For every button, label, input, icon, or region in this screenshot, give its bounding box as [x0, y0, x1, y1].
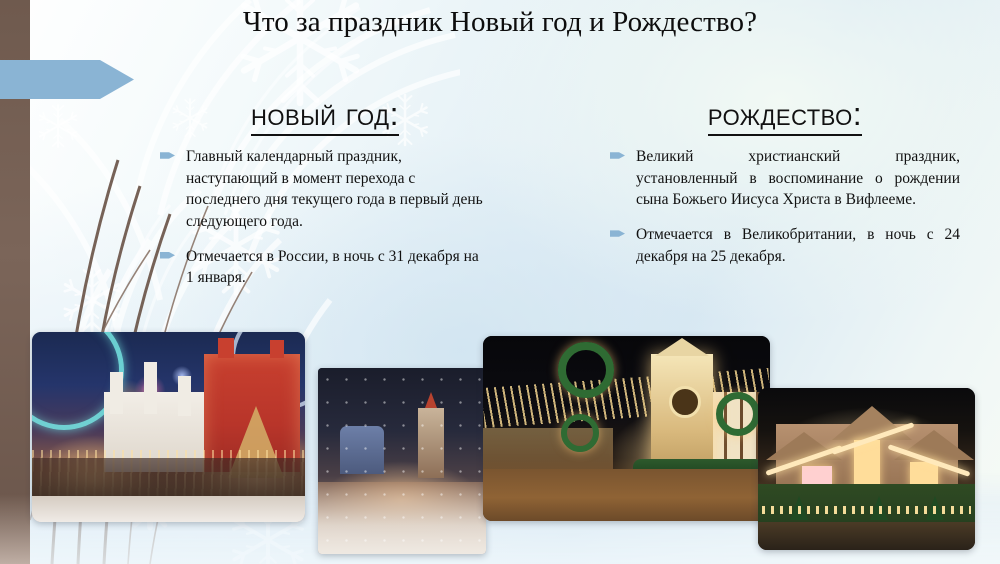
photo-red-square-snow-art — [318, 368, 486, 554]
column-christmas-heading-wrap: Рождество: — [610, 96, 960, 146]
list-item: Великий христианский праздник, установле… — [610, 146, 960, 211]
roof-gable-left — [766, 432, 842, 460]
list-item: Отмечается в Великобритании, в ночь с 24… — [610, 224, 960, 267]
column-new-year-bullet-list: Главный календарный праздник, наступающи… — [160, 146, 490, 289]
list-item: Главный календарный праздник, наступающи… — [160, 146, 490, 233]
bullet-pennant-icon — [160, 251, 175, 260]
tower-shape — [144, 362, 157, 414]
list-item-text: Отмечается в Великобритании, в ночь с 24… — [636, 226, 960, 265]
photo-christmas-market — [483, 336, 770, 521]
photo-moscow-fireworks — [32, 332, 305, 522]
photo-red-square-snow — [318, 368, 486, 554]
banner-arrow-decoration — [0, 60, 134, 99]
yard-lights-strand — [762, 506, 971, 514]
column-christmas-bullet-list: Великий христианский праздник, установле… — [610, 146, 960, 267]
photo-decorated-house-art — [758, 388, 975, 550]
list-item-text: Главный календарный праздник, наступающи… — [186, 148, 483, 230]
column-christmas-heading: Рождество: — [708, 96, 862, 136]
street-ground-shape — [483, 469, 770, 521]
wreath-icon — [716, 392, 760, 436]
list-item: Отмечается в России, в ночь с 31 декабря… — [160, 246, 490, 289]
bullet-pennant-icon — [610, 229, 625, 238]
column-christmas: Рождество: Великий христианский праздник… — [610, 96, 960, 280]
wreath-icon — [558, 342, 614, 398]
slide: Что за праздник Новый год и Рождество? Н… — [0, 0, 1000, 564]
crowd-shape — [32, 458, 305, 500]
left-accent-bar-fade — [0, 494, 30, 564]
tower-shape — [110, 372, 123, 414]
list-item-text: Великий христианский праздник, установле… — [636, 148, 960, 208]
road-shape — [758, 522, 975, 550]
photo-moscow-fireworks-art — [32, 332, 305, 522]
photo-christmas-market-art — [483, 336, 770, 521]
photo-decorated-house — [758, 388, 975, 550]
page-title: Что за праздник Новый год и Рождество? — [0, 6, 1000, 39]
tower-shape — [178, 376, 191, 416]
bullet-pennant-icon — [160, 151, 175, 160]
clock-face-icon — [669, 386, 701, 418]
wreath-icon — [561, 414, 599, 452]
snow-ground-shape — [32, 496, 305, 522]
column-new-year-heading-wrap: Новый год: — [160, 96, 490, 146]
falling-snow-overlay — [318, 368, 486, 554]
column-new-year-heading: Новый год: — [251, 96, 399, 136]
column-new-year: Новый год: Главный календарный праздник,… — [160, 96, 490, 302]
bullet-pennant-icon — [610, 151, 625, 160]
list-item-text: Отмечается в России, в ночь с 31 декабря… — [186, 248, 479, 287]
